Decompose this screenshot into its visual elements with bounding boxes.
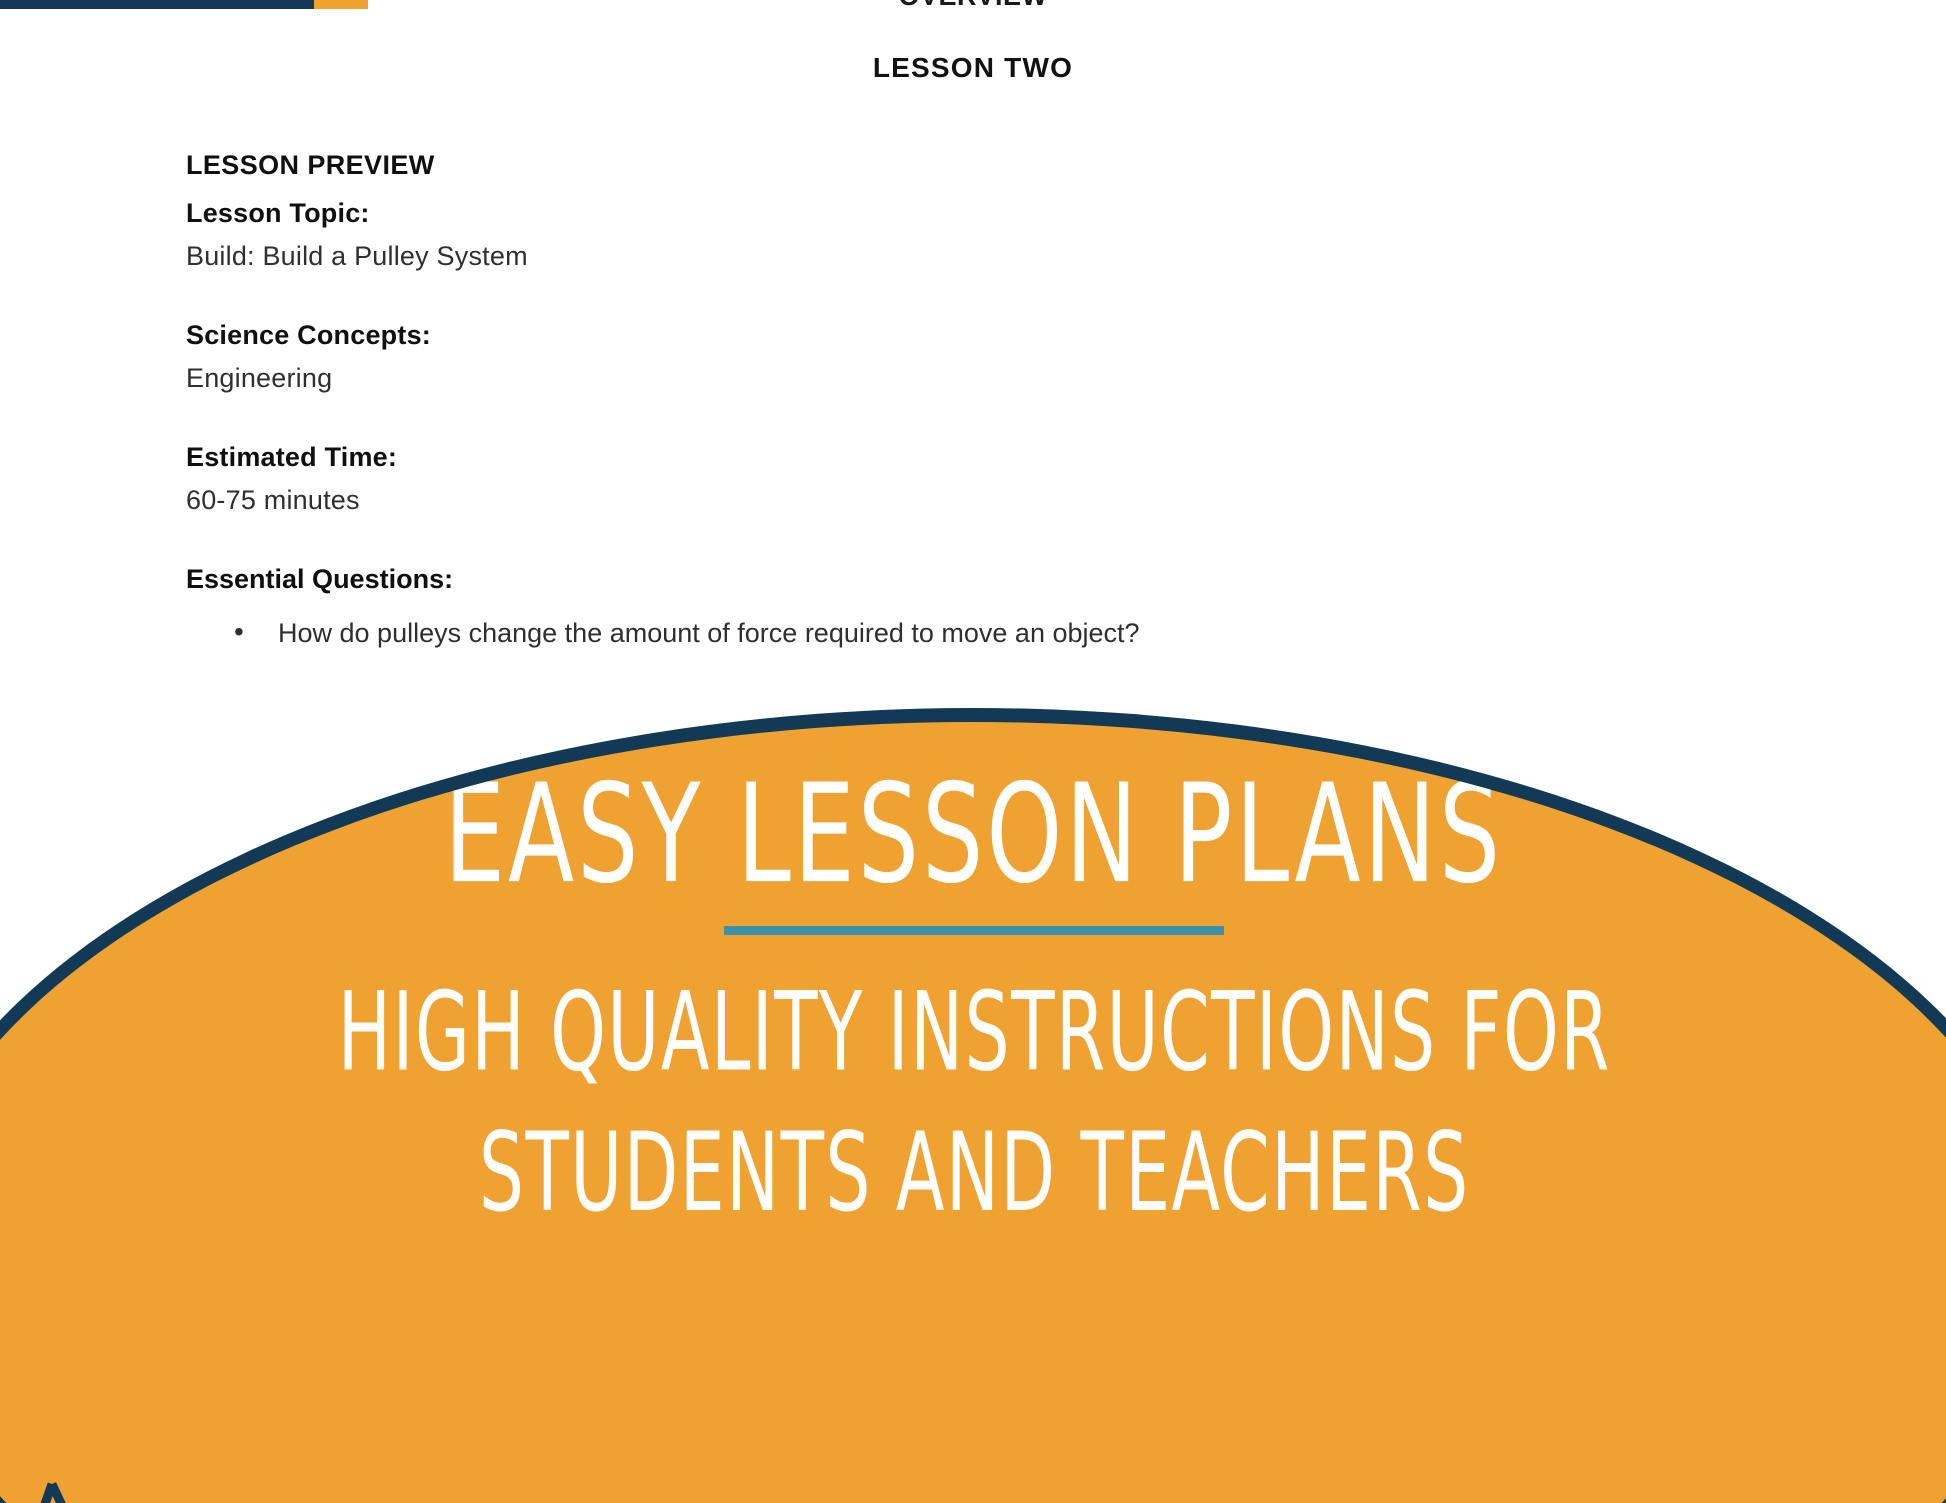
brand-subtitle-line-1: High quality instructions for [337, 963, 1610, 1103]
field-label-estimated-time: Estimated Time: [186, 442, 1686, 473]
field-label-lesson-topic: Lesson Topic: [186, 198, 1686, 229]
brand-subtitle: High quality instructions for students a… [337, 963, 1610, 1243]
essential-questions-list: How do pulleys change the amount of forc… [186, 613, 1686, 654]
field-value-lesson-topic: Build: Build a Pulley System [186, 241, 1686, 272]
field-label-science-concepts: Science Concepts: [186, 320, 1686, 351]
essential-questions-label: Essential Questions: [186, 564, 1686, 595]
field-value-estimated-time: 60-75 minutes [186, 485, 1686, 516]
document-page: OVERVIEW LESSON TWO LESSON PREVIEW Lesso… [0, 0, 1946, 1503]
field-science-concepts: Science Concepts: Engineering [186, 320, 1686, 394]
page-title: LESSON TWO [0, 52, 1946, 84]
document-body: LESSON PREVIEW Lesson Topic: Build: Buil… [186, 150, 1686, 654]
clipped-top-text: OVERVIEW [0, 0, 1946, 12]
list-item: How do pulleys change the amount of forc… [234, 613, 1686, 654]
field-estimated-time: Estimated Time: 60-75 minutes [186, 442, 1686, 516]
brand-title-text: Easy Lesson Plans [444, 755, 1503, 914]
lesson-preview-heading: LESSON PREVIEW [186, 150, 1686, 181]
field-value-science-concepts: Engineering [186, 363, 1686, 394]
brand-overlay-oval: Easy Lesson Plans High quality instructi… [0, 708, 1946, 1503]
brand-overlay-content: Easy Lesson Plans High quality instructi… [0, 722, 1946, 1503]
field-lesson-topic: Lesson Topic: Build: Build a Pulley Syst… [186, 198, 1686, 272]
brand-divider [724, 926, 1224, 935]
brand-title: Easy Lesson Plans [444, 764, 1503, 907]
brand-subtitle-line-2: students and teachers [337, 1102, 1610, 1242]
essential-questions-block: Essential Questions: How do pulleys chan… [186, 564, 1686, 654]
